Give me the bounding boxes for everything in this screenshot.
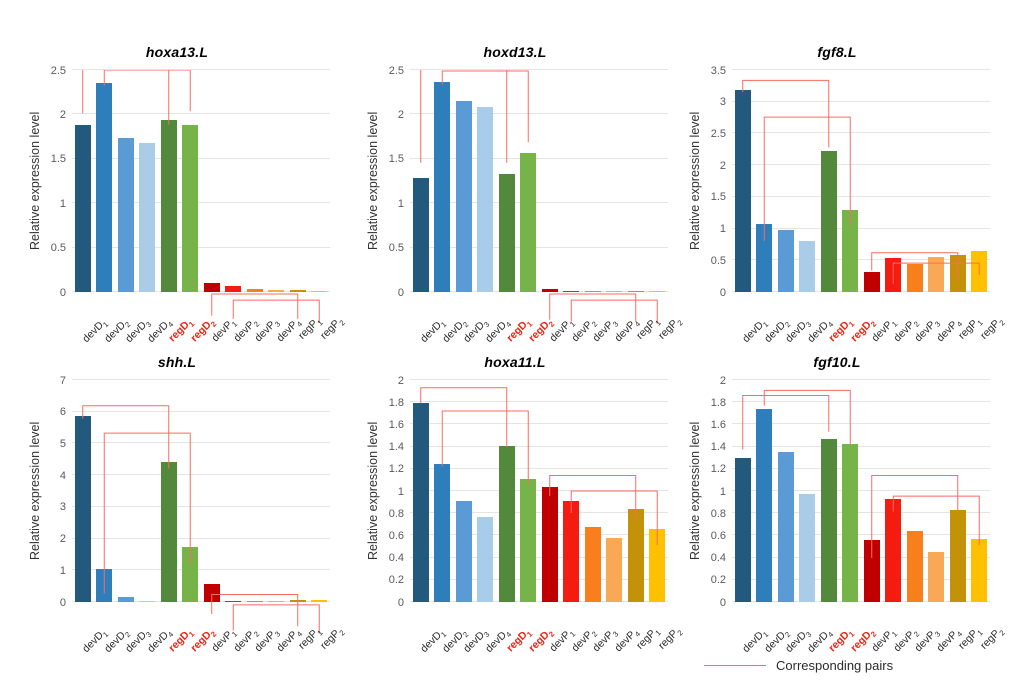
- bar-regP1[interactable]: [950, 255, 966, 292]
- y-axis-tick: 0.4: [389, 552, 404, 564]
- bar-regP1[interactable]: [290, 600, 306, 602]
- chart-panel-shh: shh.LRelative expression level01234567de…: [8, 348, 346, 658]
- bar-devD1[interactable]: [75, 416, 91, 602]
- y-axis-tick: 0.6: [389, 530, 404, 542]
- y-axis-tick: 2: [720, 375, 726, 387]
- bar-regD1[interactable]: [499, 446, 515, 603]
- bar-regP1[interactable]: [628, 291, 644, 292]
- x-axis-labels-hoxa11-l: devD1devD2devD3devD4regD1regD2devP1devP2…: [410, 604, 668, 652]
- plot-area-hoxd13-l: Relative expression level00.511.522.5: [410, 70, 668, 292]
- bar-slot: [582, 380, 604, 602]
- bar-devP2[interactable]: [563, 501, 579, 602]
- bar-slot: [904, 380, 926, 602]
- y-axis-tick: 0: [720, 597, 726, 609]
- y-axis-tick: 1.6: [389, 419, 404, 431]
- y-axis-tick: 1.5: [711, 191, 726, 203]
- bar-slot: [475, 70, 497, 292]
- bar-regP2[interactable]: [311, 291, 327, 292]
- y-axis-tick: 2: [60, 533, 66, 545]
- bar-slot: [266, 70, 288, 292]
- y-axis-tick: 0.5: [51, 242, 66, 254]
- bar-devP4[interactable]: [928, 257, 944, 292]
- bar-slot: [926, 380, 948, 602]
- bar-slot: [754, 70, 776, 292]
- bar-devP1[interactable]: [542, 487, 558, 602]
- y-axis-label-hoxa11-l: Relative expression level: [366, 422, 380, 560]
- bar-slot: [840, 380, 862, 602]
- bar-slot: [775, 70, 797, 292]
- bar-devP1[interactable]: [864, 272, 880, 292]
- y-axis-tick: 1.4: [711, 441, 726, 453]
- y-axis-tick: 1.5: [51, 153, 66, 165]
- y-axis-tick: 3.5: [711, 65, 726, 77]
- chart-title-fgf8-l: fgf8.L: [668, 44, 1006, 60]
- bar-regP1[interactable]: [950, 510, 966, 602]
- y-axis-tick: 0: [398, 597, 404, 609]
- bar-slot: [797, 70, 819, 292]
- y-axis-tick: 1.2: [389, 463, 404, 475]
- bar-slot: [223, 380, 245, 602]
- y-axis-tick: 1: [60, 565, 66, 577]
- bar-regP1[interactable]: [628, 509, 644, 602]
- corresponding-pairs-line-icon: [704, 665, 766, 666]
- plot-area-hoxa13-l: Relative expression level00.511.522.5: [72, 70, 330, 292]
- bar-devD3[interactable]: [778, 452, 794, 602]
- bar-devP4[interactable]: [928, 552, 944, 602]
- y-axis-tick: 3: [60, 501, 66, 513]
- bar-devP3[interactable]: [585, 527, 601, 602]
- bar-slot: [432, 380, 454, 602]
- y-axis-tick: 0.8: [389, 508, 404, 520]
- bar-slot: [625, 380, 647, 602]
- bar-slot: [539, 380, 561, 602]
- bar-regD1[interactable]: [161, 462, 177, 602]
- y-axis-tick: 2: [398, 375, 404, 387]
- y-axis-tick: 1.8: [389, 397, 404, 409]
- y-axis-label-fgf10-l: Relative expression level: [688, 422, 702, 560]
- bar-slot: [947, 380, 969, 602]
- y-axis-tick: 7: [60, 375, 66, 387]
- y-axis-tick: 0.8: [711, 508, 726, 520]
- x-axis-label-regP2: regP2: [318, 315, 347, 344]
- y-axis-tick: 0.2: [711, 574, 726, 586]
- bar-slot: [518, 70, 540, 292]
- y-axis-label-fgf8-l: Relative expression level: [688, 112, 702, 250]
- bar-devD4[interactable]: [477, 517, 493, 602]
- bar-devD2[interactable]: [434, 82, 450, 292]
- y-axis-label-hoxd13-l: Relative expression level: [366, 112, 380, 250]
- bar-slot: [266, 380, 288, 602]
- bar-slot: [137, 70, 159, 292]
- bar-devD3[interactable]: [118, 138, 134, 292]
- bar-slot: [818, 380, 840, 602]
- chart-title-hoxa11-l: hoxa11.L: [346, 354, 684, 370]
- bar-devP4[interactable]: [606, 291, 622, 292]
- chart-panel-hoxa11: hoxa11.LRelative expression level00.20.4…: [346, 348, 684, 658]
- y-axis-tick: 2.5: [51, 65, 66, 77]
- bar-devD3[interactable]: [456, 501, 472, 602]
- bar-regD1[interactable]: [821, 151, 837, 292]
- bar-slot: [180, 70, 202, 292]
- bar-regP1[interactable]: [290, 290, 306, 292]
- bar-devD2[interactable]: [96, 569, 112, 602]
- bar-slot: [818, 70, 840, 292]
- bar-slot: [115, 70, 137, 292]
- bar-series-fgf8-l: [732, 70, 990, 292]
- bar-slot: [115, 380, 137, 602]
- plot-area-hoxa11-l: Relative expression level00.20.40.60.811…: [410, 380, 668, 602]
- x-axis-labels-hoxa13-l: devD1devD2devD3devD4regD1regD2devP1devP2…: [72, 294, 330, 342]
- y-axis-tick: 1: [720, 486, 726, 498]
- bar-regP2[interactable]: [649, 291, 665, 292]
- y-axis-tick: 2.5: [711, 128, 726, 140]
- bar-regD2[interactable]: [182, 125, 198, 292]
- bar-devP2[interactable]: [885, 499, 901, 602]
- bar-series-fgf10-l: [732, 380, 990, 602]
- bar-slot: [410, 70, 432, 292]
- bar-slot: [732, 70, 754, 292]
- bar-devD4[interactable]: [799, 241, 815, 292]
- bar-slot: [947, 70, 969, 292]
- y-axis-tick: 1.4: [389, 441, 404, 453]
- bar-devD1[interactable]: [735, 458, 751, 602]
- y-axis-label-hoxa13-l: Relative expression level: [28, 112, 42, 250]
- bar-devP3[interactable]: [907, 531, 923, 602]
- bar-slot: [180, 380, 202, 602]
- bar-slot: [475, 380, 497, 602]
- bar-devD3[interactable]: [118, 597, 134, 602]
- bar-slot: [72, 380, 94, 602]
- bar-regD1[interactable]: [499, 174, 515, 292]
- bar-slot: [861, 70, 883, 292]
- bar-regD2[interactable]: [520, 479, 536, 602]
- bar-devP1[interactable]: [542, 289, 558, 292]
- y-axis-tick: 1.5: [389, 153, 404, 165]
- bar-slot: [883, 380, 905, 602]
- bar-slot: [518, 380, 540, 602]
- bar-devD4[interactable]: [139, 143, 155, 292]
- bar-series-hoxa13-l: [72, 70, 330, 292]
- bar-slot: [625, 70, 647, 292]
- bar-devD1[interactable]: [75, 125, 91, 292]
- bar-slot: [797, 380, 819, 602]
- y-axis-tick: 5: [60, 438, 66, 450]
- bar-slot: [539, 70, 561, 292]
- bar-slot: [926, 70, 948, 292]
- bar-slot: [287, 70, 309, 292]
- bar-slot: [410, 380, 432, 602]
- bar-regD2[interactable]: [842, 210, 858, 292]
- bar-regP2[interactable]: [311, 600, 327, 602]
- bar-devP1[interactable]: [204, 584, 220, 602]
- bar-devP3[interactable]: [247, 289, 263, 292]
- bar-devD2[interactable]: [434, 464, 450, 602]
- figure-panel-grid: hoxa13.LRelative expression level00.511.…: [0, 0, 1014, 695]
- bar-slot: [223, 70, 245, 292]
- x-axis-labels-hoxd13-l: devD1devD2devD3devD4regD1regD2devP1devP2…: [410, 294, 668, 342]
- y-axis-tick: 1: [720, 223, 726, 235]
- legend-label: Corresponding pairs: [776, 658, 893, 673]
- bar-slot: [861, 380, 883, 602]
- chart-title-hoxa13-l: hoxa13.L: [8, 44, 346, 60]
- chart-title-hoxd13-l: hoxd13.L: [346, 44, 684, 60]
- y-axis-tick: 0: [60, 597, 66, 609]
- bar-slot: [754, 380, 776, 602]
- y-axis-tick: 0: [60, 287, 66, 299]
- bar-slot: [158, 380, 180, 602]
- bar-slot: [72, 70, 94, 292]
- bar-devP2[interactable]: [225, 601, 241, 602]
- bar-slot: [582, 70, 604, 292]
- bar-series-hoxa11-l: [410, 380, 668, 602]
- y-axis-tick: 2: [720, 160, 726, 172]
- bar-series-shh-l: [72, 380, 330, 602]
- bar-regD1[interactable]: [161, 120, 177, 292]
- bar-devP4[interactable]: [606, 538, 622, 602]
- y-axis-tick: 1.6: [711, 419, 726, 431]
- y-axis-tick: 0.5: [389, 242, 404, 254]
- bar-slot: [94, 70, 116, 292]
- y-axis-tick: 3: [720, 96, 726, 108]
- bar-regD1[interactable]: [821, 439, 837, 602]
- bar-devD3[interactable]: [778, 230, 794, 292]
- bar-slot: [244, 70, 266, 292]
- bar-devP2[interactable]: [225, 286, 241, 292]
- bar-slot: [158, 70, 180, 292]
- bar-slot: [496, 380, 518, 602]
- chart-panel-hoxa13: hoxa13.LRelative expression level00.511.…: [8, 38, 346, 348]
- bar-slot: [309, 70, 331, 292]
- bar-slot: [309, 380, 331, 602]
- bar-slot: [287, 380, 309, 602]
- bar-slot: [775, 380, 797, 602]
- y-axis-tick: 0.4: [711, 552, 726, 564]
- bar-slot: [561, 380, 583, 602]
- x-axis-label-regP2: regP2: [978, 315, 1007, 344]
- x-axis-labels-fgf10-l: devD1devD2devD3devD4regD1regD2devP1devP2…: [732, 604, 990, 652]
- bar-devD4[interactable]: [477, 107, 493, 292]
- bar-slot: [647, 70, 669, 292]
- y-axis-tick: 2: [398, 109, 404, 121]
- bar-devD3[interactable]: [456, 101, 472, 292]
- y-axis-tick: 2: [60, 109, 66, 121]
- bar-slot: [604, 70, 626, 292]
- bar-devP1[interactable]: [204, 283, 220, 292]
- y-axis-label-shh-l: Relative expression level: [28, 422, 42, 560]
- bar-slot: [969, 70, 991, 292]
- bar-devP4[interactable]: [268, 290, 284, 292]
- bar-slot: [604, 380, 626, 602]
- y-axis-tick: 0.6: [711, 530, 726, 542]
- bar-devD1[interactable]: [735, 90, 751, 292]
- bar-slot: [137, 380, 159, 602]
- bar-devD1[interactable]: [413, 178, 429, 292]
- chart-panel-hoxd13: hoxd13.LRelative expression level00.511.…: [346, 38, 684, 348]
- y-axis-tick: 0: [398, 287, 404, 299]
- bar-regP2[interactable]: [971, 251, 987, 292]
- bar-regD2[interactable]: [182, 547, 198, 603]
- bar-devP3[interactable]: [585, 291, 601, 292]
- bar-regD2[interactable]: [520, 153, 536, 292]
- plot-area-fgf10-l: Relative expression level00.20.40.60.811…: [732, 380, 990, 602]
- y-axis-tick: 1: [60, 198, 66, 210]
- bar-slot: [201, 70, 223, 292]
- y-axis-tick: 1: [398, 486, 404, 498]
- y-axis-tick: 1.8: [711, 397, 726, 409]
- bar-slot: [453, 70, 475, 292]
- chart-panel-fgf10: fgf10.LRelative expression level00.20.40…: [668, 348, 1006, 658]
- y-axis-tick: 1: [398, 198, 404, 210]
- y-axis-tick: 0.5: [711, 255, 726, 267]
- plot-area-fgf8-l: Relative expression level00.511.522.533.…: [732, 70, 990, 292]
- legend: Corresponding pairs: [704, 658, 893, 673]
- x-axis-label-regP2: regP2: [318, 625, 347, 654]
- bar-slot: [732, 380, 754, 602]
- chart-title-shh-l: shh.L: [8, 354, 346, 370]
- bar-devD2[interactable]: [756, 224, 772, 292]
- bar-slot: [244, 380, 266, 602]
- bar-slot: [201, 380, 223, 602]
- y-axis-tick: 6: [60, 406, 66, 418]
- bar-devP4[interactable]: [268, 601, 284, 602]
- bar-slot: [904, 70, 926, 292]
- bar-slot: [453, 380, 475, 602]
- bar-slot: [969, 380, 991, 602]
- x-axis-labels-shh-l: devD1devD2devD3devD4regD1regD2devP1devP2…: [72, 604, 330, 652]
- y-axis-tick: 1.2: [711, 463, 726, 475]
- y-axis-tick: 0.2: [389, 574, 404, 586]
- x-axis-label-regP2: regP2: [978, 625, 1007, 654]
- y-axis-tick: 2.5: [389, 65, 404, 77]
- x-axis-labels-fgf8-l: devD1devD2devD3devD4regD1regD2devP1devP2…: [732, 294, 990, 342]
- bar-slot: [432, 70, 454, 292]
- bar-slot: [496, 70, 518, 292]
- bar-devD4[interactable]: [799, 494, 815, 602]
- bar-devD1[interactable]: [413, 403, 429, 602]
- bar-devD4[interactable]: [139, 601, 155, 602]
- bar-slot: [647, 380, 669, 602]
- bar-slot: [883, 70, 905, 292]
- y-axis-tick: 0: [720, 287, 726, 299]
- bar-devP1[interactable]: [864, 540, 880, 602]
- bar-devP2[interactable]: [563, 291, 579, 292]
- bar-devP3[interactable]: [907, 264, 923, 292]
- bar-series-hoxd13-l: [410, 70, 668, 292]
- bar-regD2[interactable]: [842, 444, 858, 602]
- bar-devP3[interactable]: [247, 601, 263, 602]
- bar-devD2[interactable]: [756, 409, 772, 602]
- bar-devP2[interactable]: [885, 258, 901, 292]
- bar-regP2[interactable]: [971, 539, 987, 602]
- plot-area-shh-l: Relative expression level01234567: [72, 380, 330, 602]
- bar-devD2[interactable]: [96, 83, 112, 292]
- bar-regP2[interactable]: [649, 529, 665, 602]
- y-axis-tick: 4: [60, 470, 66, 482]
- chart-panel-fgf8: fgf8.LRelative expression level00.511.52…: [668, 38, 1006, 348]
- chart-title-fgf10-l: fgf10.L: [668, 354, 1006, 370]
- bar-slot: [840, 70, 862, 292]
- bar-slot: [561, 70, 583, 292]
- bar-slot: [94, 380, 116, 602]
